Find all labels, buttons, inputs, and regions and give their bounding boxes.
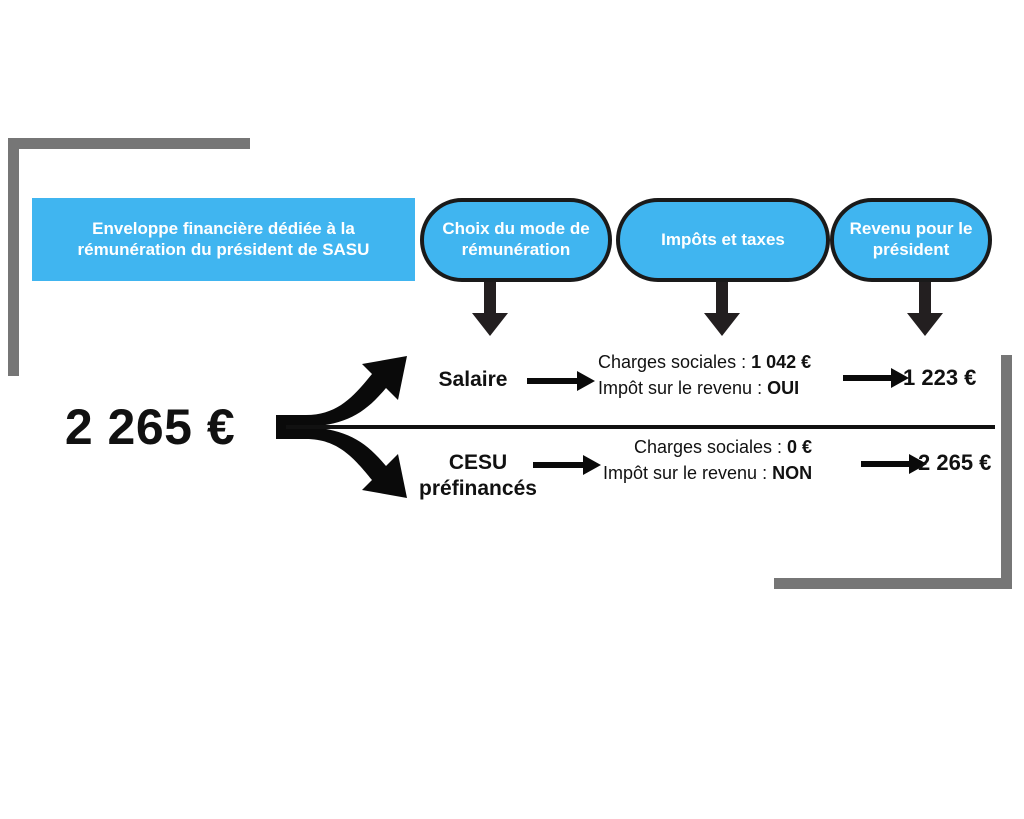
- diagram-canvas: Enveloppe financière dédiée à la rémunér…: [0, 0, 1024, 819]
- center-divider-line: [286, 425, 995, 429]
- detail-charges-sociales-salaire: Charges sociales : 1 042 €: [598, 350, 811, 376]
- corner-bracket-bottom-right-vertical: [1001, 355, 1012, 589]
- corner-bracket-top-left-horizontal: [8, 138, 250, 149]
- box-choix-mode-remuneration: Choix du mode de rémunération: [420, 198, 612, 282]
- impot-revenu-value-salaire: OUI: [767, 378, 799, 398]
- right-arrow-result-salaire-icon: [843, 365, 909, 391]
- detail-charges-sociales-cesu: Charges sociales : 0 €: [603, 435, 812, 461]
- impot-revenu-label-salaire: Impôt sur le revenu :: [598, 378, 767, 398]
- branch-label-salaire: Salaire: [408, 367, 538, 393]
- down-arrow-revenu-icon: [905, 282, 945, 338]
- charges-sociales-label-cesu: Charges sociales :: [634, 437, 787, 457]
- charges-sociales-label-salaire: Charges sociales :: [598, 352, 751, 372]
- box-revenu-pour-le-president: Revenu pour le président: [830, 198, 992, 282]
- branch-label-cesu-prefinances: CESU préfinancés: [404, 450, 552, 503]
- down-arrow-impots-icon: [702, 282, 742, 338]
- detail-block-cesu: Charges sociales : 0 € Impôt sur le reve…: [603, 435, 812, 486]
- corner-bracket-top-left-vertical: [8, 138, 19, 376]
- detail-block-salaire: Charges sociales : 1 042 € Impôt sur le …: [598, 350, 811, 401]
- result-amount-salaire: 1 223 €: [903, 365, 976, 391]
- right-arrow-salaire-icon: [527, 368, 595, 394]
- charges-sociales-value-cesu: 0 €: [787, 437, 812, 457]
- detail-impot-revenu-cesu: Impôt sur le revenu : NON: [603, 461, 812, 487]
- down-arrow-choix-icon: [470, 282, 510, 338]
- box-enveloppe-financiere: Enveloppe financière dédiée à la rémunér…: [32, 198, 415, 281]
- impot-revenu-value-cesu: NON: [772, 463, 812, 483]
- main-amount-value: 2 265 €: [30, 398, 270, 456]
- impot-revenu-label-cesu: Impôt sur le revenu :: [603, 463, 772, 483]
- corner-bracket-bottom-right-horizontal: [774, 578, 1012, 589]
- charges-sociales-value-salaire: 1 042 €: [751, 352, 811, 372]
- detail-impot-revenu-salaire: Impôt sur le revenu : OUI: [598, 376, 811, 402]
- right-arrow-cesu-icon: [533, 452, 601, 478]
- box-impots-et-taxes: Impôts et taxes: [616, 198, 830, 282]
- result-amount-cesu: 2 265 €: [918, 450, 991, 476]
